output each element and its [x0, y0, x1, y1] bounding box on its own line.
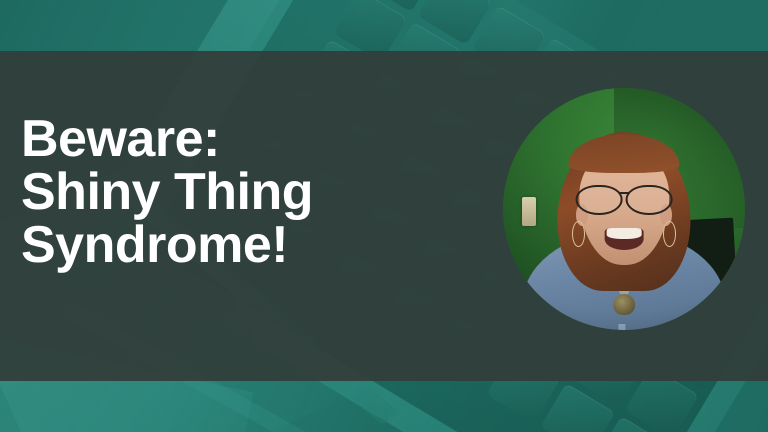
title-block: Beware: Shiny Thing Syndrome! — [21, 113, 313, 272]
light-switch-icon — [522, 197, 535, 226]
glasses-lens-right — [626, 185, 673, 216]
necklace-pendant — [613, 294, 635, 316]
teeth — [606, 228, 642, 238]
glasses-bridge — [618, 192, 630, 195]
title-line-1: Beware: — [21, 113, 313, 166]
shirt-placket — [618, 324, 625, 330]
smiling-mouth — [605, 228, 644, 250]
title-line-2: Shiny Thing — [21, 166, 313, 219]
thumbnail-canvas: Beware: Shiny Thing Syndrome! — [0, 0, 768, 432]
host-portrait-circle — [503, 88, 745, 330]
eyeglasses-icon — [576, 185, 673, 212]
title-line-3: Syndrome! — [21, 219, 313, 272]
earring-left — [572, 221, 585, 247]
glasses-lens-left — [576, 185, 623, 216]
